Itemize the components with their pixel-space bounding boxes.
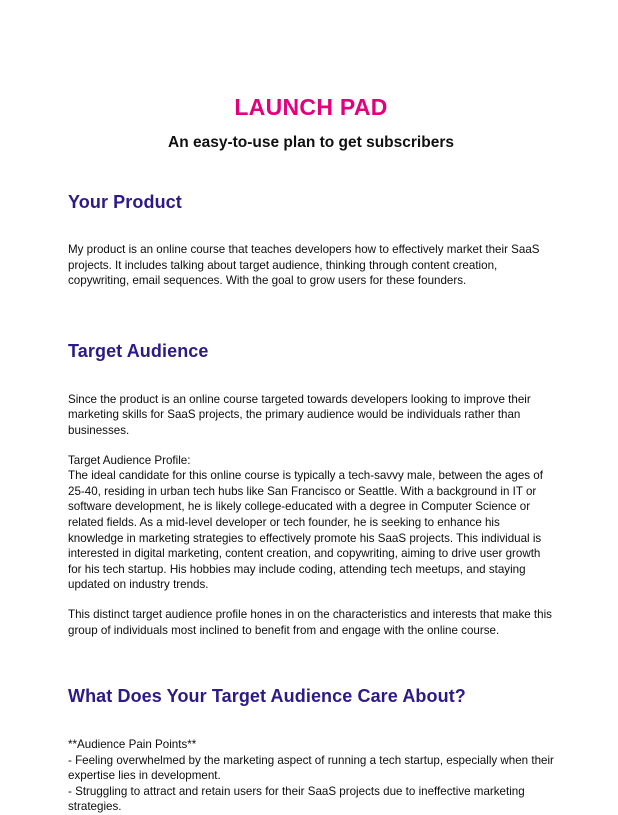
section-paragraph-audience-intro: Since the product is an online course ta… — [68, 392, 554, 439]
section-heading-your-product: Your Product — [68, 192, 554, 213]
section-paragraph-audience-pain-points: **Audience Pain Points**- Feeling overwh… — [68, 737, 554, 815]
section-paragraph-audience-summary: This distinct target audience profile ho… — [68, 607, 554, 638]
document-content: LAUNCH PAD An easy-to-use plan to get su… — [68, 0, 554, 815]
section-paragraph-audience-profile: Target Audience Profile:The ideal candid… — [68, 453, 554, 593]
document-page: LAUNCH PAD An easy-to-use plan to get su… — [0, 0, 618, 800]
document-subtitle: An easy-to-use plan to get subscribers — [68, 120, 554, 152]
document-title: LAUNCH PAD — [68, 0, 554, 120]
section-heading-audience-care-about: What Does Your Target Audience Care Abou… — [68, 686, 554, 707]
section-paragraph-your-product: My product is an online course that teac… — [68, 242, 554, 289]
section-heading-target-audience: Target Audience — [68, 341, 554, 362]
